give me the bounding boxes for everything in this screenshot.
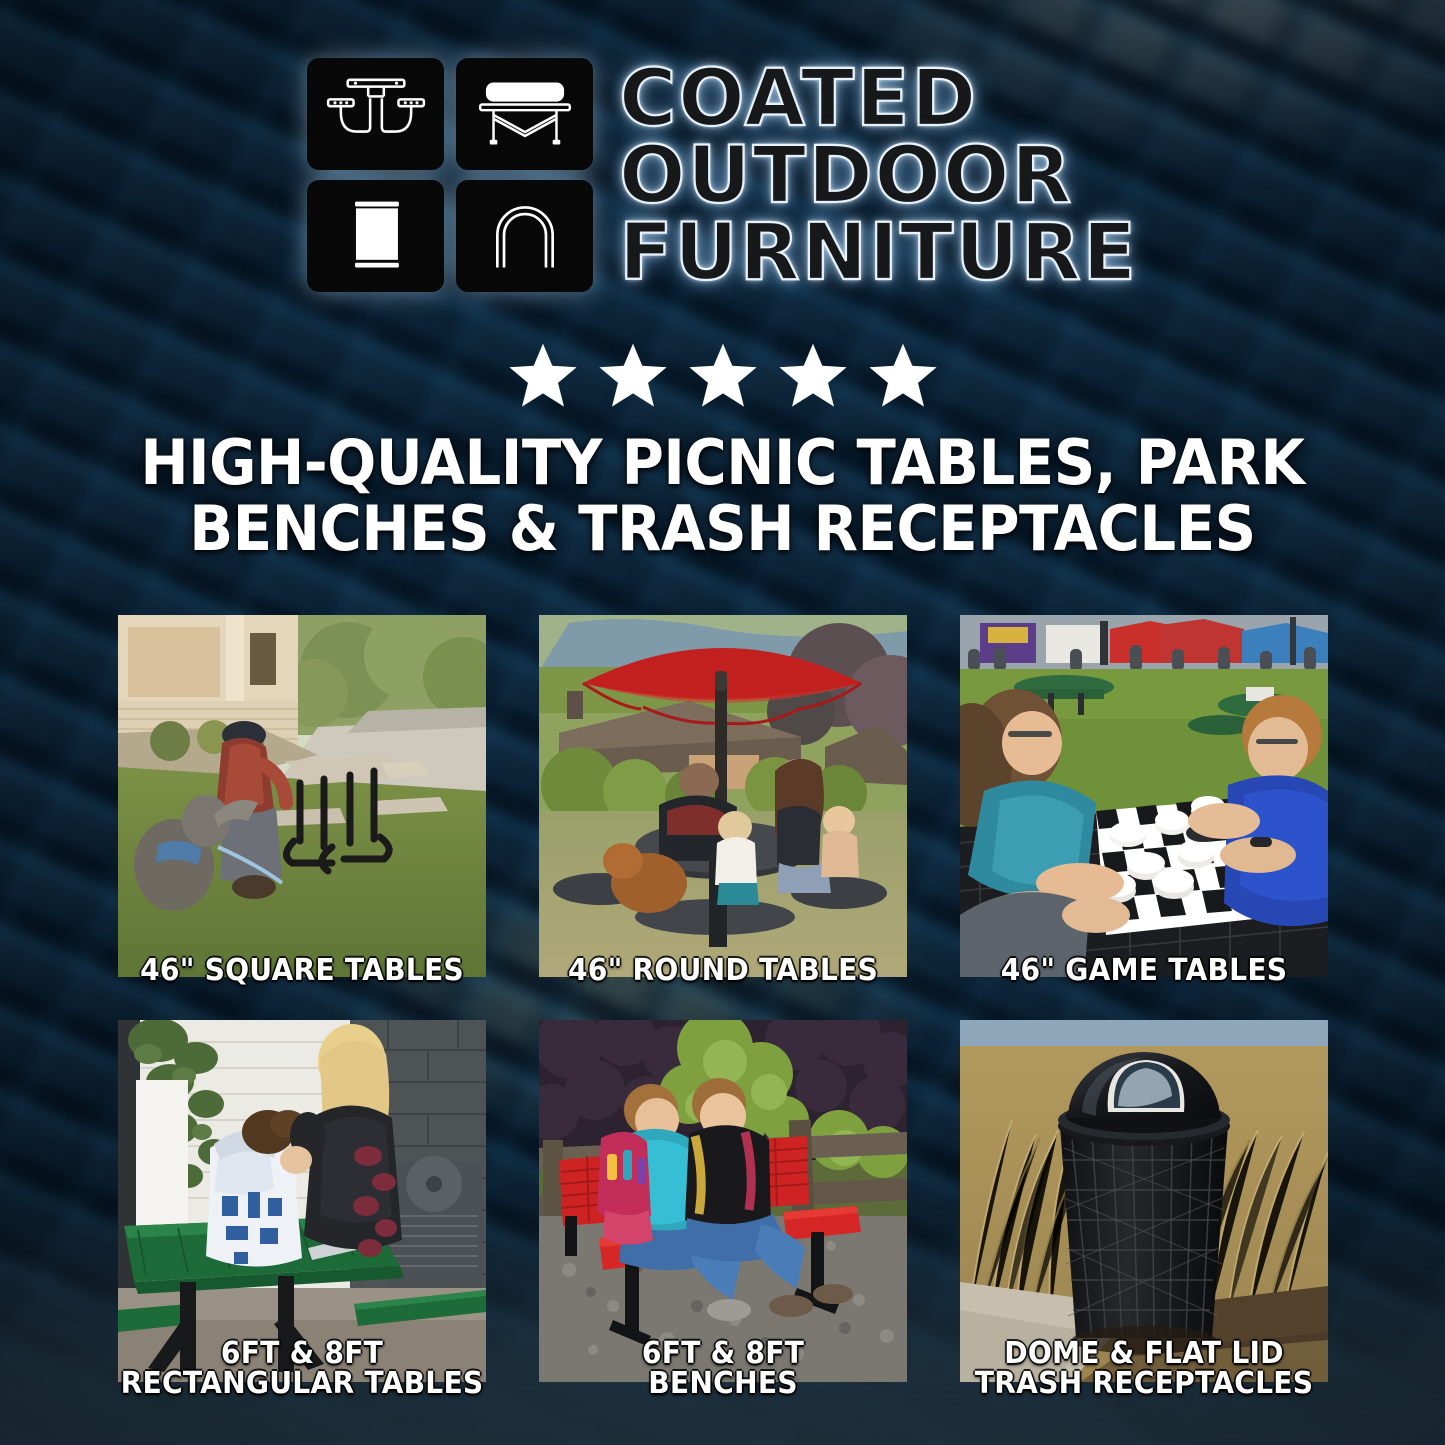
headline-line-2: BENCHES & TRASH RECEPTACLES: [106, 496, 1338, 562]
star-icon: [775, 340, 851, 412]
caption-line-1: 6FT & 8FT: [541, 1339, 906, 1370]
brand-name-line-3: FURNITURE: [619, 216, 1138, 291]
product-tile-square-tables[interactable]: 46" SQUARE TABLES: [118, 615, 486, 977]
product-caption-rectangular-tables: 6FT & 8FT RECTANGULAR TABLES: [120, 1339, 485, 1400]
star-icon: [505, 340, 581, 412]
brand-wordmark: COATED OUTDOOR FURNITURE: [619, 58, 1138, 291]
product-caption-trash-receptacles: DOME & FLAT LID TRASH RECEPTACLES: [962, 1339, 1327, 1400]
product-caption-benches: 6FT & 8FT BENCHES: [541, 1339, 906, 1400]
product-tile-trash-receptacles[interactable]: DOME & FLAT LID TRASH RECEPTACLES: [960, 1020, 1328, 1382]
caption-line-2: RECTANGULAR TABLES: [120, 1369, 485, 1400]
product-photo-game-tables: [960, 615, 1328, 977]
brand-name-line-2: OUTDOOR: [619, 139, 1138, 214]
product-caption-game-tables: 46" GAME TABLES: [962, 956, 1327, 987]
picnic-table-icon: [307, 58, 444, 170]
star-icon: [685, 340, 761, 412]
brand-logo: COATED OUTDOOR FURNITURE: [0, 58, 1445, 292]
product-photo-rectangular-tables: [118, 1020, 486, 1382]
caption-line-2: TRASH RECEPTACLES: [962, 1369, 1327, 1400]
star-icon: [595, 340, 671, 412]
brand-name-line-1: COATED: [619, 62, 1138, 137]
caption-line-1: 46" ROUND TABLES: [541, 956, 906, 987]
product-tile-round-tables[interactable]: 46" ROUND TABLES: [539, 615, 907, 977]
caption-line-1: 6FT & 8FT: [120, 1339, 485, 1370]
product-photo-benches: [539, 1020, 907, 1382]
caption-line-1: 46" GAME TABLES: [962, 956, 1327, 987]
star-icon: [865, 340, 941, 412]
bike-rack-arch-icon: [456, 180, 593, 292]
logo-mark: [307, 58, 593, 292]
product-photo-round-tables: [539, 615, 907, 977]
caption-line-1: DOME & FLAT LID: [962, 1339, 1327, 1370]
caption-line-1: 46" SQUARE TABLES: [120, 956, 485, 987]
product-tile-benches[interactable]: 6FT & 8FT BENCHES: [539, 1020, 907, 1382]
caption-line-2: BENCHES: [541, 1369, 906, 1400]
table-side-icon: [456, 58, 593, 170]
product-caption-square-tables: 46" SQUARE TABLES: [120, 956, 485, 987]
trash-receptacle-icon: [307, 180, 444, 292]
page-headline: HIGH-QUALITY PICNIC TABLES, PARK BENCHES…: [106, 430, 1338, 563]
product-tile-rectangular-tables[interactable]: 6FT & 8FT RECTANGULAR TABLES: [118, 1020, 486, 1382]
star-rating: [0, 340, 1445, 412]
product-photo-square-tables: [118, 615, 486, 977]
product-grid: 46" SQUARE TABLES: [118, 615, 1328, 1382]
headline-line-1: HIGH-QUALITY PICNIC TABLES, PARK: [106, 430, 1338, 496]
product-caption-round-tables: 46" ROUND TABLES: [541, 956, 906, 987]
product-tile-game-tables[interactable]: 46" GAME TABLES: [960, 615, 1328, 977]
product-photo-trash-receptacles: [960, 1020, 1328, 1382]
